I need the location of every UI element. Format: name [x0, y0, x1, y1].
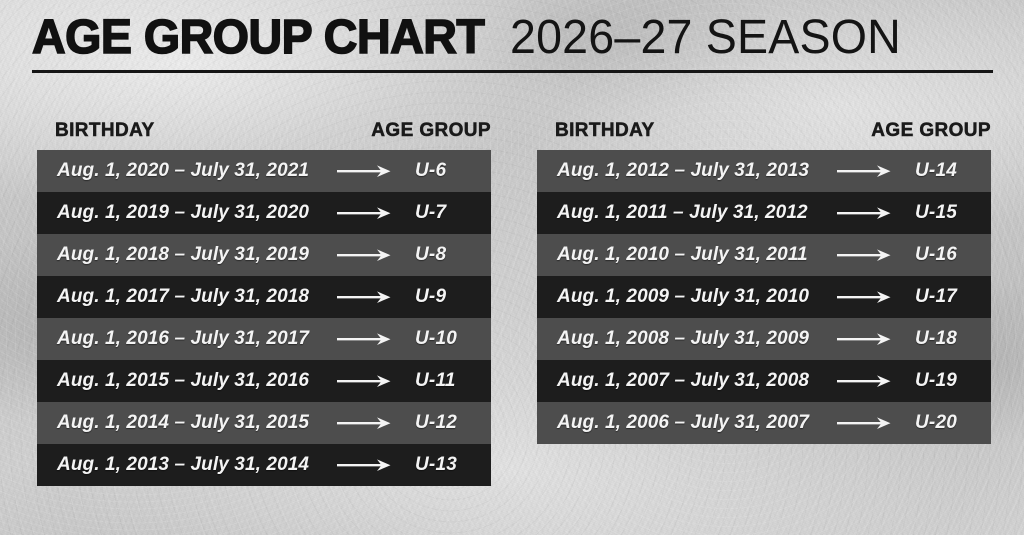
age-group-table-right: BIRTHDAY AGE GROUP Aug. 1, 2012 – July 3…: [537, 108, 991, 444]
row-birthday-range: Aug. 1, 2020 – July 31, 2021: [57, 160, 309, 182]
age-group-table-left: BIRTHDAY AGE GROUP Aug. 1, 2020 – July 3…: [37, 108, 491, 486]
table-row: Aug. 1, 2016 – July 31, 2017U-10: [37, 318, 491, 360]
arrow-right-icon: [337, 290, 395, 304]
arrow-right-icon: [337, 374, 395, 388]
title-main: AGE GROUP CHART: [32, 14, 484, 62]
column-header-age-group: AGE GROUP: [371, 120, 491, 142]
row-birthday-range: Aug. 1, 2006 – July 31, 2007: [557, 412, 809, 434]
row-birthday-range: Aug. 1, 2017 – July 31, 2018: [57, 286, 309, 308]
row-birthday-range: Aug. 1, 2007 – July 31, 2008: [557, 370, 809, 392]
table-row: Aug. 1, 2019 – July 31, 2020U-7: [37, 192, 491, 234]
table-right-rows: Aug. 1, 2012 – July 31, 2013U-14Aug. 1, …: [537, 150, 991, 444]
title-season: 2026–27 SEASON: [510, 14, 901, 62]
table-row: Aug. 1, 2006 – July 31, 2007U-20: [537, 402, 991, 444]
arrow-right-icon: [837, 248, 895, 262]
table-row: Aug. 1, 2020 – July 31, 2021U-6: [37, 150, 491, 192]
row-age-group: U-10: [415, 328, 457, 350]
arrow-right-icon: [837, 332, 895, 346]
row-birthday-range: Aug. 1, 2013 – July 31, 2014: [57, 454, 309, 476]
row-age-group: U-19: [915, 370, 957, 392]
table-row: Aug. 1, 2017 – July 31, 2018U-9: [37, 276, 491, 318]
arrow-right-icon: [837, 164, 895, 178]
row-birthday-range: Aug. 1, 2012 – July 31, 2013: [557, 160, 809, 182]
arrow-right-icon: [837, 206, 895, 220]
table-row: Aug. 1, 2018 – July 31, 2019U-8: [37, 234, 491, 276]
arrow-right-icon: [337, 458, 395, 472]
row-age-group: U-15: [915, 202, 957, 224]
table-left-column-headers: BIRTHDAY AGE GROUP: [37, 108, 491, 150]
title-underline-rule: [32, 70, 993, 73]
arrow-right-icon: [837, 416, 895, 430]
arrow-right-icon: [837, 290, 895, 304]
arrow-right-icon: [837, 374, 895, 388]
column-header-age-group: AGE GROUP: [871, 120, 991, 142]
row-birthday-range: Aug. 1, 2018 – July 31, 2019: [57, 244, 309, 266]
row-birthday-range: Aug. 1, 2009 – July 31, 2010: [557, 286, 809, 308]
table-row: Aug. 1, 2012 – July 31, 2013U-14: [537, 150, 991, 192]
arrow-right-icon: [337, 416, 395, 430]
row-age-group: U-17: [915, 286, 957, 308]
row-birthday-range: Aug. 1, 2014 – July 31, 2015: [57, 412, 309, 434]
row-age-group: U-6: [415, 160, 446, 182]
arrow-right-icon: [337, 164, 395, 178]
age-group-chart-page: AGE GROUP CHART 2026–27 SEASON BIRTHDAY …: [0, 0, 1024, 535]
table-row: Aug. 1, 2007 – July 31, 2008U-19: [537, 360, 991, 402]
row-age-group: U-9: [415, 286, 446, 308]
table-row: Aug. 1, 2015 – July 31, 2016U-11: [37, 360, 491, 402]
table-row: Aug. 1, 2014 – July 31, 2015U-12: [37, 402, 491, 444]
row-birthday-range: Aug. 1, 2019 – July 31, 2020: [57, 202, 309, 224]
table-row: Aug. 1, 2013 – July 31, 2014U-13: [37, 444, 491, 486]
table-right-column-headers: BIRTHDAY AGE GROUP: [537, 108, 991, 150]
row-birthday-range: Aug. 1, 2015 – July 31, 2016: [57, 370, 309, 392]
row-birthday-range: Aug. 1, 2008 – July 31, 2009: [557, 328, 809, 350]
row-age-group: U-13: [415, 454, 457, 476]
row-age-group: U-12: [415, 412, 457, 434]
row-birthday-range: Aug. 1, 2016 – July 31, 2017: [57, 328, 309, 350]
row-age-group: U-14: [915, 160, 957, 182]
row-birthday-range: Aug. 1, 2011 – July 31, 2012: [557, 202, 808, 224]
arrow-right-icon: [337, 332, 395, 346]
row-birthday-range: Aug. 1, 2010 – July 31, 2011: [557, 244, 808, 266]
row-age-group: U-16: [915, 244, 957, 266]
row-age-group: U-11: [415, 370, 456, 392]
table-row: Aug. 1, 2010 – July 31, 2011U-16: [537, 234, 991, 276]
arrow-right-icon: [337, 206, 395, 220]
table-row: Aug. 1, 2009 – July 31, 2010U-17: [537, 276, 991, 318]
arrow-right-icon: [337, 248, 395, 262]
row-age-group: U-20: [915, 412, 957, 434]
column-header-birthday: BIRTHDAY: [555, 120, 655, 142]
page-title: AGE GROUP CHART 2026–27 SEASON: [32, 14, 994, 70]
row-age-group: U-18: [915, 328, 957, 350]
column-header-birthday: BIRTHDAY: [55, 120, 155, 142]
table-left-rows: Aug. 1, 2020 – July 31, 2021U-6Aug. 1, 2…: [37, 150, 491, 486]
table-row: Aug. 1, 2008 – July 31, 2009U-18: [537, 318, 991, 360]
table-row: Aug. 1, 2011 – July 31, 2012U-15: [537, 192, 991, 234]
row-age-group: U-7: [415, 202, 446, 224]
row-age-group: U-8: [415, 244, 446, 266]
